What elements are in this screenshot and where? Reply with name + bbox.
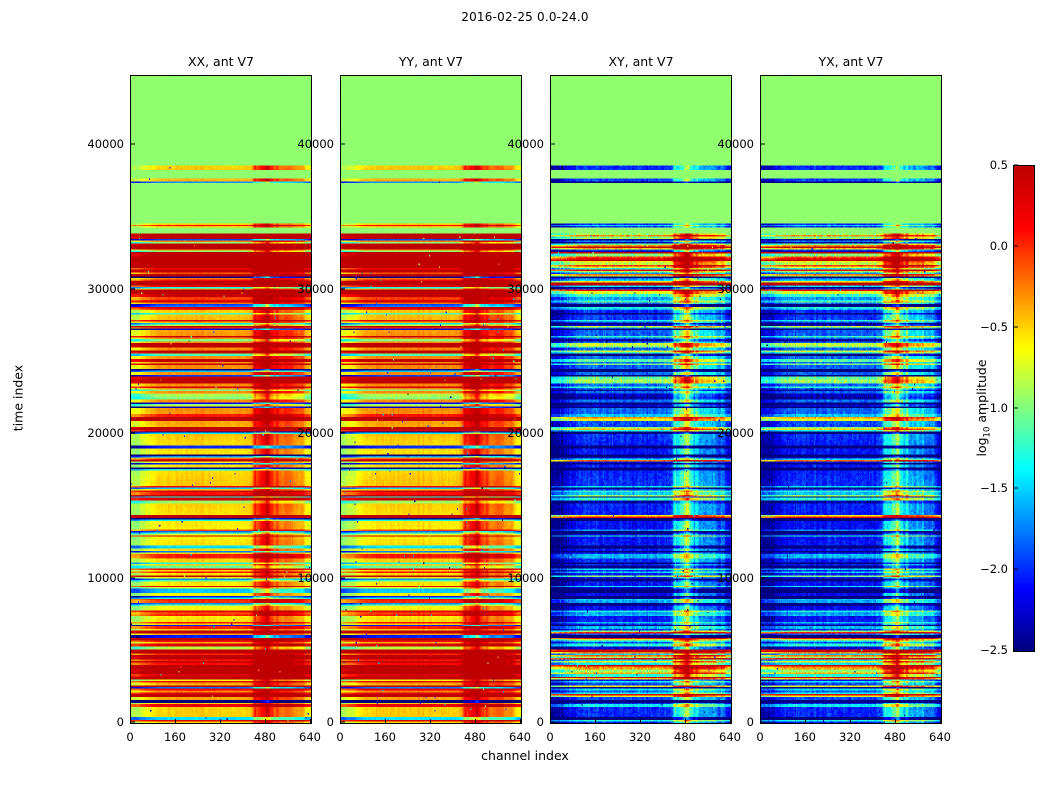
y-tick-mark (761, 288, 765, 289)
y-tick-mark (341, 722, 345, 723)
x-tick-mark (850, 719, 851, 723)
x-tick-mark (595, 719, 596, 723)
y-tick-mark (761, 144, 765, 145)
colorbar-tick-label: 0.0 (968, 239, 1008, 253)
x-tick-mark (895, 719, 896, 723)
y-tick-mark (131, 144, 135, 145)
y-tick-label: 20000 (698, 426, 754, 440)
waterfall-panel-yy[interactable] (340, 75, 522, 724)
y-tick-mark (551, 722, 555, 723)
y-tick-label: 10000 (68, 571, 124, 585)
figure-canvas: 2016-02-25 0.0-24.0 XX, ant V7 YY, ant V… (0, 0, 1050, 800)
y-tick-label: 10000 (698, 571, 754, 585)
x-tick-label: 160 (164, 730, 186, 744)
y-tick-label: 20000 (68, 426, 124, 440)
x-tick-label: 480 (884, 730, 906, 744)
colorbar-tick-label: −2.5 (968, 643, 1008, 657)
y-tick-label: 40000 (68, 137, 124, 151)
colorbar-tick-label: 0.5 (968, 158, 1008, 172)
colorbar-tick-label: −2.0 (968, 562, 1008, 576)
y-tick-label: 30000 (68, 282, 124, 296)
y-axis-label: time index (11, 365, 26, 431)
y-tick-mark (341, 288, 345, 289)
y-tick-label: 0 (488, 715, 544, 729)
colorbar-label: log10 amplitude (974, 359, 993, 456)
x-tick-label: 0 (546, 730, 553, 744)
colorbar-tick-label: −0.5 (968, 320, 1008, 334)
x-tick-mark (805, 719, 806, 723)
colorbar-tick-mark (1014, 569, 1018, 570)
y-tick-label: 10000 (488, 571, 544, 585)
y-tick-label: 30000 (698, 282, 754, 296)
x-tick-mark (130, 719, 131, 723)
x-tick-label: 320 (629, 730, 651, 744)
y-tick-label: 40000 (698, 137, 754, 151)
y-tick-label: 20000 (488, 426, 544, 440)
x-tick-label: 160 (374, 730, 396, 744)
y-tick-mark (551, 288, 555, 289)
y-tick-label: 0 (278, 715, 334, 729)
y-tick-mark (131, 722, 135, 723)
x-tick-label: 640 (719, 730, 741, 744)
colorbar-tick-mark (1014, 245, 1018, 246)
y-tick-mark (341, 433, 345, 434)
waterfall-panel-yx[interactable] (760, 75, 942, 724)
panel-title-yx: YX, ant V7 (760, 54, 942, 69)
x-tick-mark (265, 719, 266, 723)
x-tick-mark (220, 719, 221, 723)
figure-suptitle: 2016-02-25 0.0-24.0 (0, 10, 1050, 24)
x-tick-mark (475, 719, 476, 723)
y-tick-mark (131, 288, 135, 289)
waterfall-panel-xy[interactable] (550, 75, 732, 724)
y-tick-mark (341, 144, 345, 145)
colorbar-tick-mark (1014, 650, 1018, 651)
y-tick-label: 40000 (278, 137, 334, 151)
x-tick-label: 0 (336, 730, 343, 744)
x-tick-label: 160 (794, 730, 816, 744)
y-tick-mark (131, 433, 135, 434)
x-tick-mark (685, 719, 686, 723)
y-tick-label: 10000 (278, 571, 334, 585)
y-tick-mark (551, 144, 555, 145)
x-tick-label: 640 (509, 730, 531, 744)
panel-title-yy: YY, ant V7 (340, 54, 522, 69)
y-tick-label: 0 (698, 715, 754, 729)
x-tick-label: 0 (756, 730, 763, 744)
x-tick-mark (430, 719, 431, 723)
y-tick-mark (551, 433, 555, 434)
colorbar-label-main: log (974, 437, 989, 456)
x-tick-label: 480 (674, 730, 696, 744)
y-tick-mark (761, 577, 765, 578)
y-tick-mark (761, 433, 765, 434)
colorbar-tick-mark (1014, 165, 1018, 166)
panel-title-xx: XX, ant V7 (130, 54, 312, 69)
y-tick-mark (341, 577, 345, 578)
waterfall-panel-xx[interactable] (130, 75, 312, 724)
x-tick-label: 480 (464, 730, 486, 744)
x-tick-mark (550, 719, 551, 723)
x-tick-mark (175, 719, 176, 723)
y-tick-label: 30000 (278, 282, 334, 296)
x-tick-mark (340, 719, 341, 723)
x-tick-label: 480 (254, 730, 276, 744)
x-tick-label: 320 (839, 730, 861, 744)
x-tick-label: 320 (419, 730, 441, 744)
y-tick-label: 40000 (488, 137, 544, 151)
colorbar-label-sub: 10 (982, 427, 992, 438)
x-tick-label: 640 (299, 730, 321, 744)
y-tick-label: 20000 (278, 426, 334, 440)
x-tick-mark (385, 719, 386, 723)
x-axis-label: channel index (0, 748, 1050, 763)
x-tick-label: 160 (584, 730, 606, 744)
y-tick-mark (761, 722, 765, 723)
x-tick-mark (760, 719, 761, 723)
panel-title-xy: XY, ant V7 (550, 54, 732, 69)
x-tick-mark (940, 719, 941, 723)
colorbar[interactable] (1013, 165, 1035, 652)
colorbar-tick-mark (1014, 407, 1018, 408)
y-tick-mark (131, 577, 135, 578)
colorbar-tick-label: −1.5 (968, 481, 1008, 495)
x-tick-label: 320 (209, 730, 231, 744)
colorbar-tick-mark (1014, 488, 1018, 489)
y-tick-label: 0 (68, 715, 124, 729)
y-tick-mark (551, 577, 555, 578)
x-tick-label: 640 (929, 730, 951, 744)
x-tick-label: 0 (126, 730, 133, 744)
colorbar-tick-mark (1014, 326, 1018, 327)
y-tick-label: 30000 (488, 282, 544, 296)
colorbar-label-tail: amplitude (974, 359, 989, 426)
x-tick-mark (640, 719, 641, 723)
